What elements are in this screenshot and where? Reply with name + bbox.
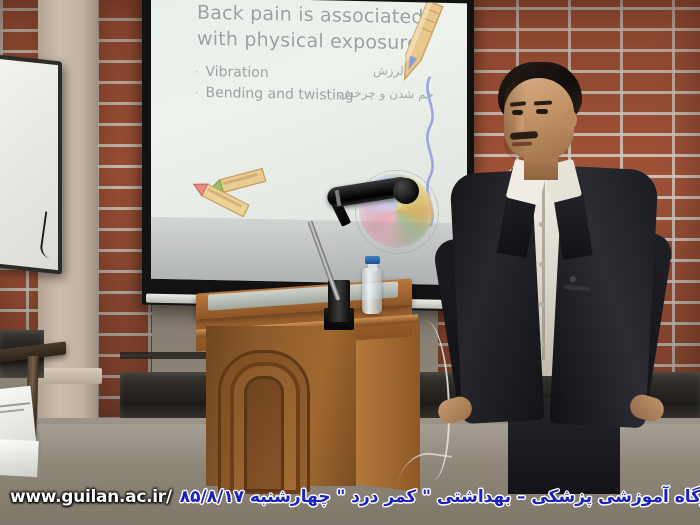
papers-stack-lower [0, 439, 39, 477]
bullet-marker-icon: · [195, 88, 199, 99]
website-url: www.guilan.ac.ir/ [10, 487, 172, 507]
jacket-button [570, 276, 576, 282]
event-caption-persian: سومین کارگاه آموزشی پزشکی – بهداشتی " کم… [180, 487, 700, 507]
shirt-button [539, 302, 544, 307]
speaker-eye-left [512, 110, 523, 115]
caption-overlay: www.guilan.ac.ir/ سومین کارگاه آموزشی پز… [0, 483, 700, 511]
speaker-eye-right [536, 109, 548, 114]
water-bottle-cap [365, 256, 380, 264]
shirt-placket [542, 180, 545, 360]
slide-bullet-label: Bending and twisting [206, 85, 354, 104]
shirt-button [539, 262, 544, 267]
projection-screen-frame: Back pain is associated with physical ex… [142, 0, 474, 311]
podium-carved-arch-core [244, 376, 284, 492]
slide-title: Back pain is associated with physical ex… [197, 0, 437, 57]
speaker-nose [514, 116, 524, 132]
photograph-canvas: Back pain is associated with physical ex… [0, 0, 700, 525]
speaker-ear [564, 110, 577, 129]
bullet-marker-icon: · [195, 67, 199, 78]
slide-bullet-bending-twisting: · Bending and twisting [195, 85, 354, 104]
shirt-button [539, 222, 544, 227]
projection-screen-surface: Back pain is associated with physical ex… [151, 0, 467, 285]
speaker-person [452, 62, 667, 482]
column-base-moulding [34, 368, 102, 384]
water-bottle [362, 268, 382, 314]
slide-bullet-label: Vibration [206, 64, 269, 81]
slide-bullet-vibration: · Vibration [195, 64, 269, 82]
